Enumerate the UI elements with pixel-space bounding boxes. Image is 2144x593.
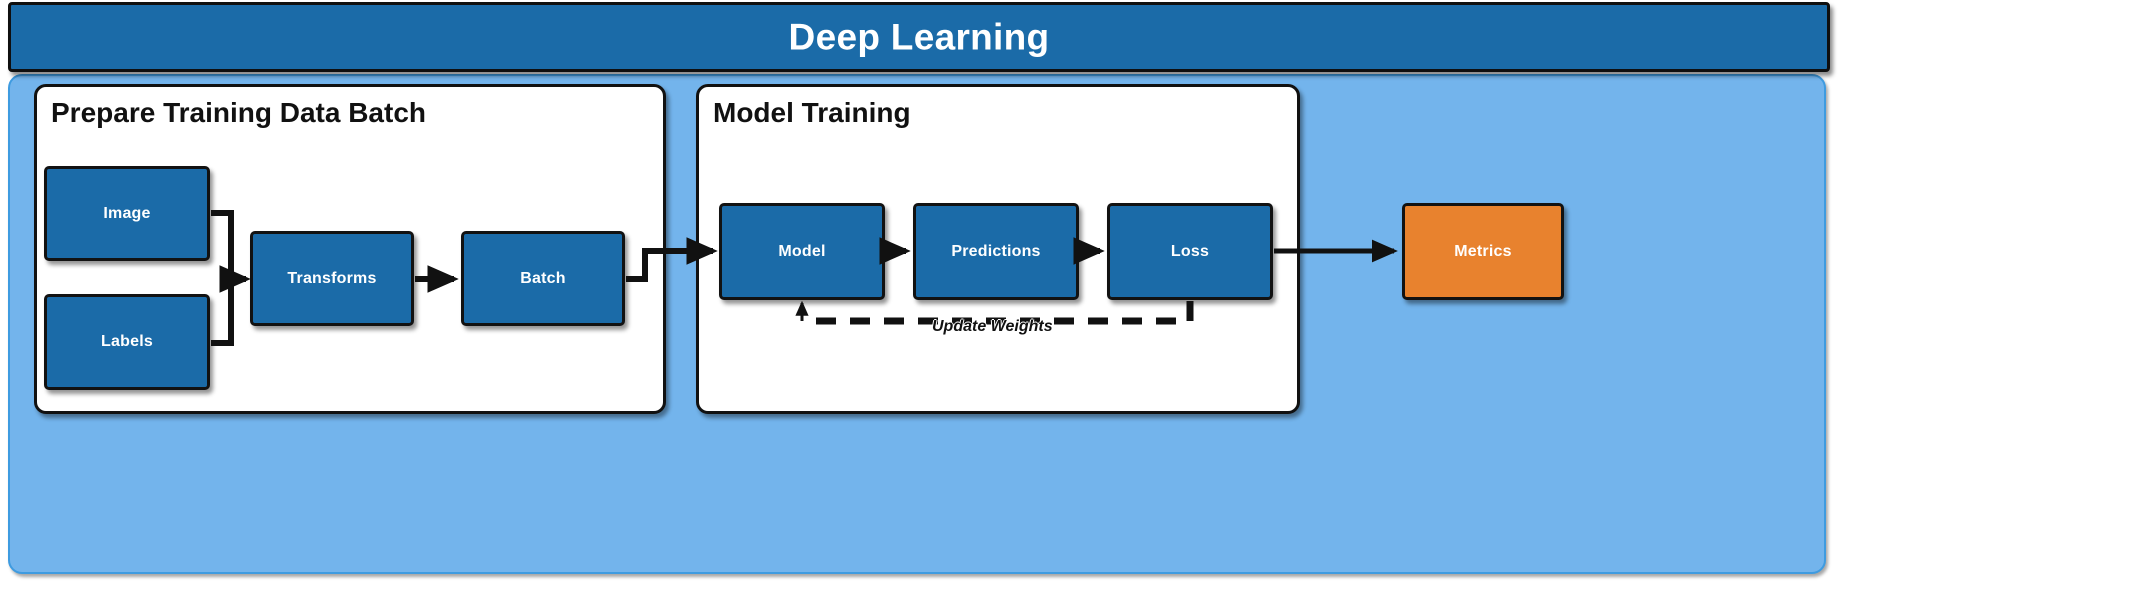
container-header-bar: Deep Learning bbox=[8, 2, 1830, 72]
node-image[interactable]: Image bbox=[44, 166, 210, 261]
panel-prepare-title: Prepare Training Data Batch bbox=[51, 98, 426, 129]
diagram-canvas: Deep Learning Prepare Training Data Batc… bbox=[0, 0, 2144, 593]
node-loss[interactable]: Loss bbox=[1107, 203, 1273, 300]
node-labels[interactable]: Labels bbox=[44, 294, 210, 390]
node-metrics[interactable]: Metrics bbox=[1402, 203, 1564, 300]
node-predictions[interactable]: Predictions bbox=[913, 203, 1079, 300]
diagram-title: Deep Learning bbox=[11, 19, 1827, 56]
node-model[interactable]: Model bbox=[719, 203, 885, 300]
edge-label-update-weights: Update Weights bbox=[932, 318, 1053, 336]
node-transforms[interactable]: Transforms bbox=[250, 231, 414, 326]
panel-training-title: Model Training bbox=[713, 98, 911, 129]
node-batch[interactable]: Batch bbox=[461, 231, 625, 326]
